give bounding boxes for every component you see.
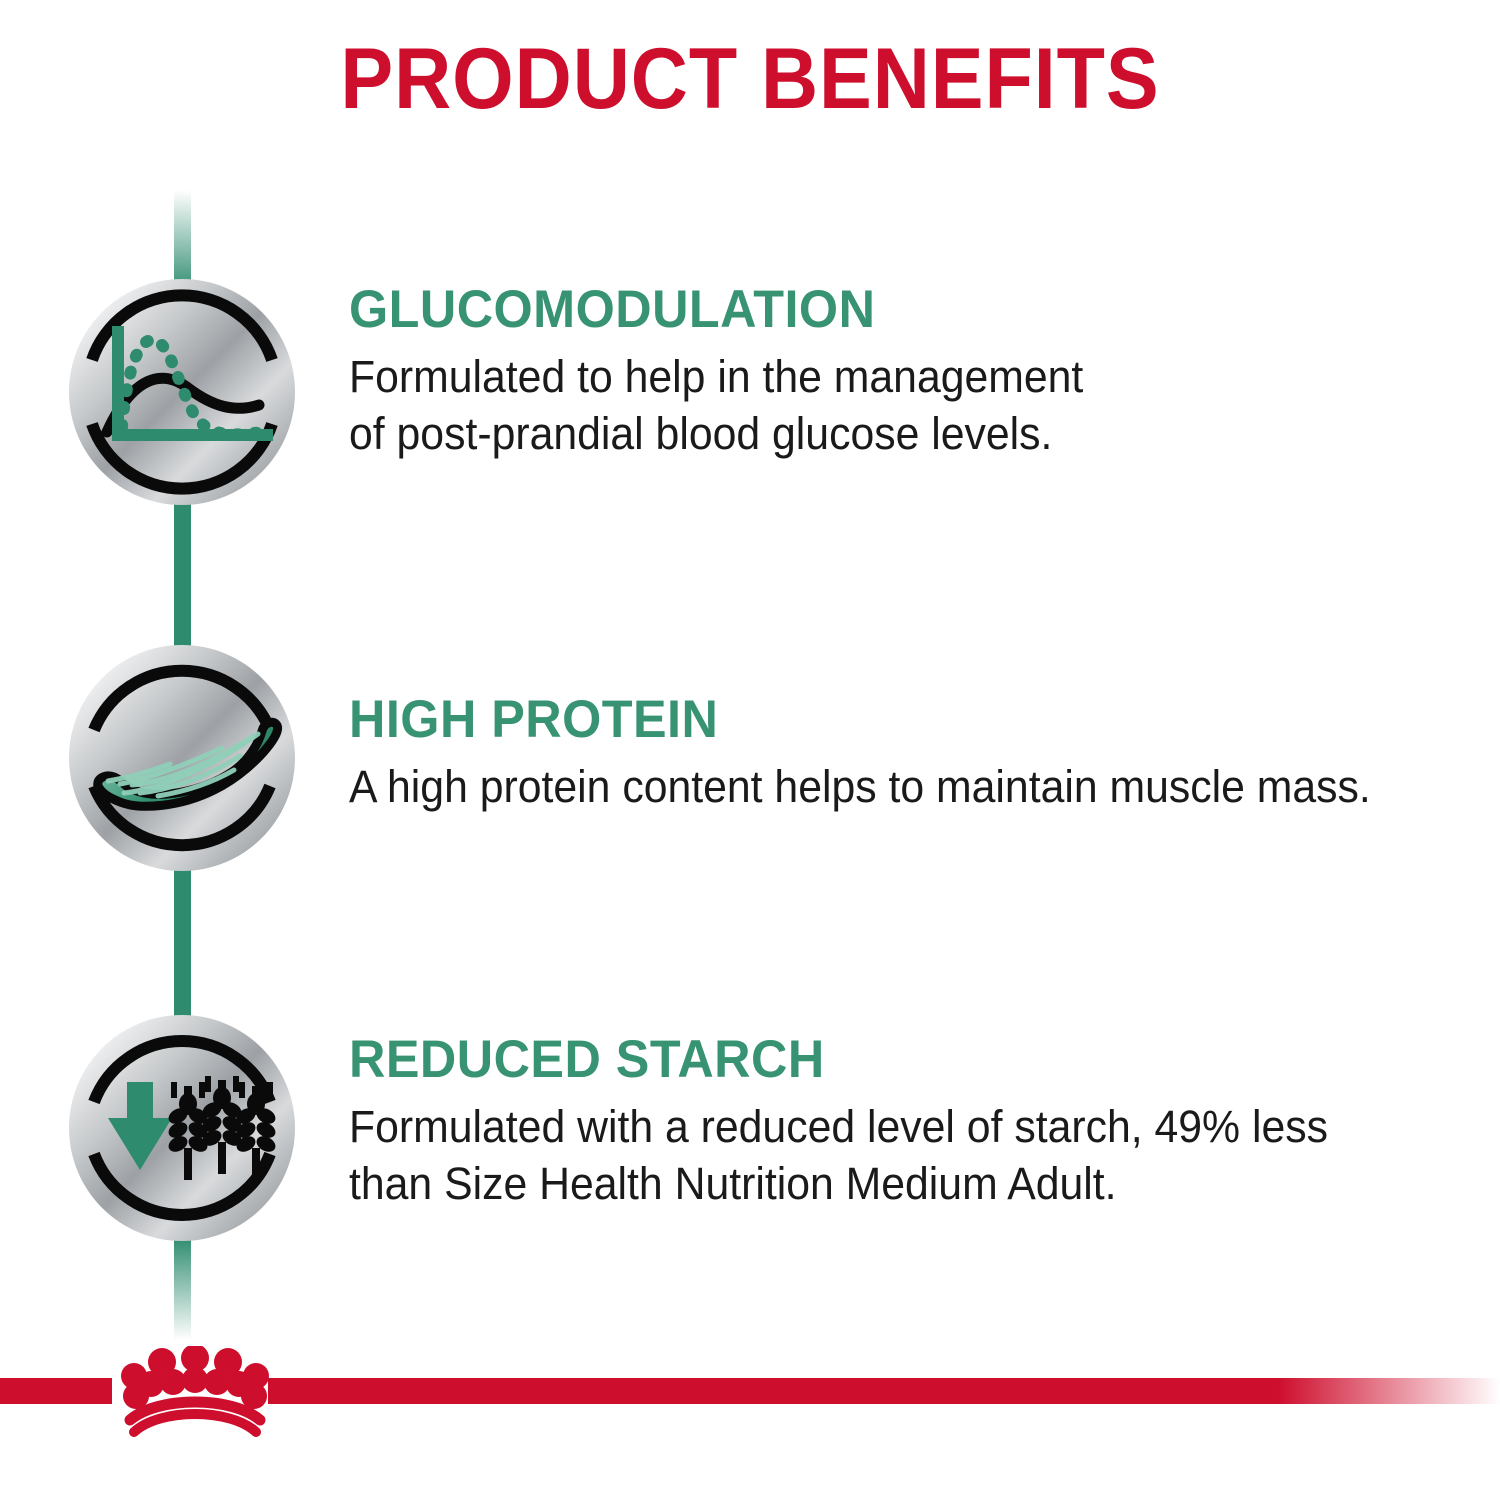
benefit-description: Formulated to help in the management of …: [349, 348, 1413, 463]
benefit-row: GLUCOMODULATION Formulated to help in th…: [0, 272, 1500, 512]
product-benefits-panel: PRODUCT BENEFITS: [0, 0, 1500, 1500]
reduced-starch-wheat-icon: [62, 1008, 302, 1248]
benefit-row: REDUCED STARCH Formulated with a reduced…: [0, 1008, 1500, 1248]
footer-bar-left: [0, 1378, 112, 1404]
benefit-copy: REDUCED STARCH Formulated with a reduced…: [349, 1008, 1500, 1213]
benefit-description: A high protein content helps to maintain…: [349, 758, 1413, 816]
page-title: PRODUCT BENEFITS: [60, 34, 1440, 124]
glucose-curve-icon: [62, 272, 302, 512]
benefit-title: REDUCED STARCH: [349, 1032, 1442, 1088]
benefit-row: HIGH PROTEIN A high protein content help…: [0, 638, 1500, 878]
benefit-description: Formulated with a reduced level of starc…: [349, 1098, 1413, 1213]
benefit-title: HIGH PROTEIN: [349, 692, 1442, 748]
muscle-icon: [62, 638, 302, 878]
footer: [0, 1340, 1500, 1500]
benefit-title: GLUCOMODULATION: [349, 282, 1442, 338]
benefit-copy: HIGH PROTEIN A high protein content help…: [349, 638, 1500, 815]
footer-bar-right: [268, 1378, 1500, 1404]
royal-canin-crown-logo: [110, 1346, 280, 1446]
benefit-copy: GLUCOMODULATION Formulated to help in th…: [349, 272, 1500, 463]
